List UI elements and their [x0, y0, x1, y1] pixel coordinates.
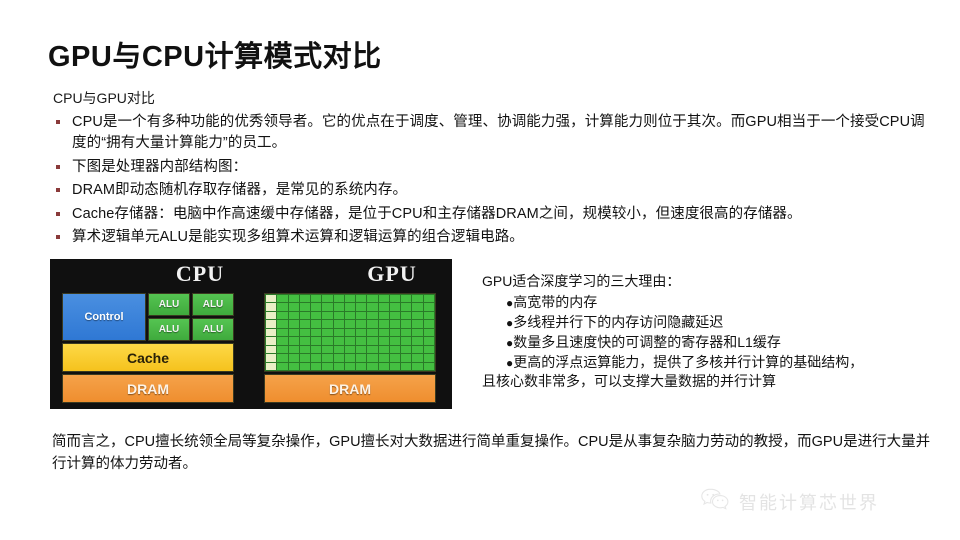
reason-item: ●数量多且速度快的可调整的寄存器和L1缓存: [482, 333, 942, 353]
gpu-core-cell: [367, 354, 377, 361]
page-title: GPU与CPU计算模式对比: [48, 42, 382, 74]
gpu-reasons-block: GPU适合深度学习的三大理由： ●高宽带的内存 ●多线程并行下的内存访问隐藏延迟…: [482, 272, 942, 392]
cpu-alu-cell: ALU: [192, 293, 234, 316]
gpu-core-cell: [356, 312, 366, 319]
gpu-core-cell: [367, 346, 377, 353]
gpu-core-cell: [311, 337, 321, 344]
gpu-core-cell: [345, 329, 355, 336]
gpu-core-cell: [300, 295, 310, 302]
gpu-core-cell: [390, 303, 400, 310]
gpu-core-cell: [311, 363, 321, 370]
gpu-core-cell: [379, 312, 389, 319]
gpu-core-cell: [412, 354, 422, 361]
gpu-core-cell: [322, 303, 332, 310]
gpu-core-cell: [390, 337, 400, 344]
gpu-core-cell: [356, 354, 366, 361]
watermark: 智能计算芯世界: [700, 487, 879, 516]
gpu-core-cell: [390, 320, 400, 327]
gpu-core-cell: [401, 320, 411, 327]
bullet-marker-icon: [52, 157, 72, 169]
gpu-core-cell: [356, 320, 366, 327]
cpu-top-row: Control ALU ALU ALU ALU: [62, 293, 234, 341]
gpu-core-cell: [289, 337, 299, 344]
gpu-core-cell: [356, 329, 366, 336]
gpu-core-cell: [412, 295, 422, 302]
conclusion-text: 简而言之，CPU擅长统领全局等复杂操作，GPU擅长对大数据进行简单重复操作。CP…: [52, 432, 938, 476]
gpu-core-cell: [367, 303, 377, 310]
gpu-core-cell: [379, 363, 389, 370]
gpu-core-cell: [289, 354, 299, 361]
gpu-core-cell: [334, 303, 344, 310]
gpu-core-cell: [424, 320, 434, 327]
gpu-core-cell: [266, 295, 276, 302]
gpu-core-cell: [322, 320, 332, 327]
gpu-core-cell: [322, 354, 332, 361]
gpu-core-cell: [345, 354, 355, 361]
gpu-core-cell: [424, 312, 434, 319]
bullet-item: Cache存储器：电脑中作高速缓中存储器，是位于CPU和主存储器DRAM之间，规…: [52, 204, 936, 225]
gpu-core-cell: [289, 320, 299, 327]
gpu-core-cell: [277, 363, 287, 370]
gpu-core-cell: [424, 303, 434, 310]
gpu-core-cell: [334, 329, 344, 336]
gpu-core-cell: [412, 312, 422, 319]
gpu-core-cell: [424, 329, 434, 336]
gpu-core-cell: [300, 337, 310, 344]
gpu-core-cell: [390, 354, 400, 361]
bullet-text: DRAM即动态随机存取存储器，是常见的系统内存。: [72, 180, 936, 201]
gpu-core-cell: [322, 346, 332, 353]
gpu-core-cell: [277, 354, 287, 361]
gpu-core-cell: [289, 303, 299, 310]
slide-canvas: GPU与CPU计算模式对比 CPU与GPU对比 CPU是一个有多种功能的优秀领导…: [0, 0, 960, 540]
diagram-cpu-label: CPU: [110, 261, 290, 287]
gpu-core-cell: [311, 295, 321, 302]
gpu-core-cell: [266, 363, 276, 370]
gpu-core-cell: [401, 354, 411, 361]
gpu-core-cell: [334, 363, 344, 370]
gpu-core-cell: [379, 303, 389, 310]
gpu-core-cell: [345, 320, 355, 327]
bullet-text: CPU是一个有多种功能的优秀领导者。它的优点在于调度、管理、协调能力强，计算能力…: [72, 112, 936, 155]
gpu-core-cell: [277, 329, 287, 336]
gpu-core-cell: [289, 363, 299, 370]
gpu-core-cell: [390, 363, 400, 370]
gpu-core-cell: [367, 295, 377, 302]
wechat-icon: [700, 487, 730, 516]
gpu-core-cell: [367, 363, 377, 370]
gpu-core-cell: [322, 312, 332, 319]
gpu-core-cell: [390, 312, 400, 319]
reason-text: 高宽带的内存: [513, 294, 597, 310]
gpu-core-cell: [266, 320, 276, 327]
gpu-core-cell: [356, 303, 366, 310]
gpu-core-cell: [390, 346, 400, 353]
bullet-text: Cache存储器：电脑中作高速缓中存储器，是位于CPU和主存储器DRAM之间，规…: [72, 204, 936, 225]
gpu-core-cell: [311, 303, 321, 310]
gpu-core-cell: [401, 295, 411, 302]
gpu-core-cell: [311, 320, 321, 327]
gpu-core-cell: [412, 363, 422, 370]
cpu-block: Control ALU ALU ALU ALU Cache DRAM: [62, 293, 234, 405]
diagram-gpu-label: GPU: [302, 261, 452, 287]
gpu-core-cell: [277, 312, 287, 319]
bullet-marker-icon: [52, 227, 72, 239]
gpu-dram-block: DRAM: [264, 374, 436, 403]
gpu-core-cell: [412, 329, 422, 336]
gpu-core-cell: [266, 329, 276, 336]
bullet-text: 算术逻辑单元ALU是能实现多组算术运算和逻辑运算的组合逻辑电路。: [72, 227, 936, 248]
reason-item: ●高宽带的内存: [482, 293, 942, 313]
gpu-core-cell: [412, 346, 422, 353]
gpu-core-cell: [367, 320, 377, 327]
reason-item: ●多线程并行下的内存访问隐藏延迟: [482, 313, 942, 333]
gpu-core-cell: [266, 354, 276, 361]
gpu-core-cell: [334, 354, 344, 361]
gpu-block: DRAM: [264, 293, 436, 405]
gpu-core-cell: [356, 295, 366, 302]
bullet-item: 下图是处理器内部结构图：: [52, 157, 936, 178]
reason-continuation-text: 且核心数非常多，可以支撑大量数据的并行计算: [482, 372, 942, 392]
gpu-core-cell: [300, 312, 310, 319]
gpu-core-cell: [367, 337, 377, 344]
gpu-core-cell: [345, 312, 355, 319]
gpu-core-cell: [311, 312, 321, 319]
gpu-core-cell: [379, 295, 389, 302]
watermark-text: 智能计算芯世界: [739, 489, 879, 515]
gpu-core-cell: [401, 312, 411, 319]
gpu-core-cell: [367, 329, 377, 336]
gpu-core-cell: [322, 337, 332, 344]
reason-text: 数量多且速度快的可调整的寄存器和L1缓存: [513, 334, 781, 350]
gpu-core-cell: [345, 303, 355, 310]
bullet-marker-icon: [52, 204, 72, 216]
bullet-text: 下图是处理器内部结构图：: [72, 157, 936, 178]
gpu-core-cell: [277, 303, 287, 310]
gpu-core-cell: [401, 337, 411, 344]
gpu-core-cell: [277, 346, 287, 353]
gpu-core-cell: [401, 303, 411, 310]
gpu-core-cell: [390, 329, 400, 336]
gpu-core-cell: [322, 363, 332, 370]
gpu-core-cell: [345, 337, 355, 344]
reason-item: ●更高的浮点运算能力，提供了多核并行计算的基础结构，: [482, 353, 942, 373]
page-subtitle: CPU与GPU对比: [53, 88, 155, 108]
gpu-core-cell: [356, 363, 366, 370]
gpu-core-cell: [300, 303, 310, 310]
gpu-core-cell: [412, 303, 422, 310]
reason-text: 更高的浮点运算能力，提供了多核并行计算的基础结构，: [513, 354, 863, 370]
gpu-core-cell: [311, 354, 321, 361]
gpu-core-cell: [379, 320, 389, 327]
gpu-core-cell: [300, 354, 310, 361]
gpu-core-cell: [424, 295, 434, 302]
gpu-core-cell: [277, 337, 287, 344]
cpu-gpu-architecture-diagram: CPU GPU Control ALU ALU ALU ALU Cache DR…: [50, 259, 452, 409]
gpu-core-cell: [401, 329, 411, 336]
gpu-core-cell: [345, 363, 355, 370]
gpu-core-cell: [277, 295, 287, 302]
gpu-core-cell: [424, 363, 434, 370]
gpu-core-cell: [300, 320, 310, 327]
gpu-core-cell: [379, 329, 389, 336]
cpu-alu-cell: ALU: [148, 293, 190, 316]
gpu-core-cell: [367, 312, 377, 319]
gpu-core-cell: [289, 329, 299, 336]
gpu-core-cell: [345, 295, 355, 302]
gpu-core-cell: [334, 337, 344, 344]
gpu-core-cell: [345, 346, 355, 353]
gpu-core-cell: [424, 346, 434, 353]
gpu-core-cell: [390, 295, 400, 302]
gpu-core-cell: [266, 312, 276, 319]
gpu-core-cell: [356, 337, 366, 344]
gpu-core-cell: [289, 346, 299, 353]
gpu-core-cell: [424, 354, 434, 361]
gpu-core-cell: [379, 346, 389, 353]
cpu-cache-block: Cache: [62, 343, 234, 372]
gpu-core-cell: [379, 354, 389, 361]
gpu-core-grid: [264, 293, 436, 372]
gpu-core-cell: [334, 346, 344, 353]
gpu-core-cell: [334, 320, 344, 327]
gpu-core-cell: [424, 337, 434, 344]
reason-text: 多线程并行下的内存访问隐藏延迟: [513, 314, 723, 330]
gpu-core-cell: [412, 320, 422, 327]
gpu-core-cell: [266, 303, 276, 310]
gpu-core-cell: [311, 329, 321, 336]
bullet-marker-icon: [52, 180, 72, 192]
gpu-core-cell: [412, 337, 422, 344]
gpu-core-cell: [356, 346, 366, 353]
reasons-heading: GPU适合深度学习的三大理由：: [482, 272, 942, 292]
bullet-marker-icon: [52, 112, 72, 124]
gpu-core-cell: [401, 346, 411, 353]
gpu-core-cell: [289, 295, 299, 302]
gpu-core-cell: [334, 295, 344, 302]
bullet-item: DRAM即动态随机存取存储器，是常见的系统内存。: [52, 180, 936, 201]
gpu-core-cell: [322, 329, 332, 336]
gpu-core-cell: [322, 295, 332, 302]
gpu-core-cell: [311, 346, 321, 353]
cpu-alu-cell: ALU: [192, 318, 234, 341]
gpu-core-cell: [289, 312, 299, 319]
gpu-core-cell: [277, 320, 287, 327]
bullet-item: 算术逻辑单元ALU是能实现多组算术运算和逻辑运算的组合逻辑电路。: [52, 227, 936, 248]
gpu-core-cell: [300, 329, 310, 336]
cpu-alu-cell: ALU: [148, 318, 190, 341]
gpu-core-cell: [401, 363, 411, 370]
bullet-item: CPU是一个有多种功能的优秀领导者。它的优点在于调度、管理、协调能力强，计算能力…: [52, 112, 936, 155]
cpu-dram-block: DRAM: [62, 374, 234, 403]
cpu-control-unit: Control: [62, 293, 146, 341]
gpu-core-cell: [266, 337, 276, 344]
gpu-core-cell: [300, 363, 310, 370]
gpu-core-cell: [379, 337, 389, 344]
bullet-list: CPU是一个有多种功能的优秀领导者。它的优点在于调度、管理、协调能力强，计算能力…: [52, 112, 936, 251]
gpu-core-cell: [266, 346, 276, 353]
gpu-core-cell: [300, 346, 310, 353]
gpu-core-cell: [334, 312, 344, 319]
cpu-alu-grid: ALU ALU ALU ALU: [148, 293, 234, 341]
